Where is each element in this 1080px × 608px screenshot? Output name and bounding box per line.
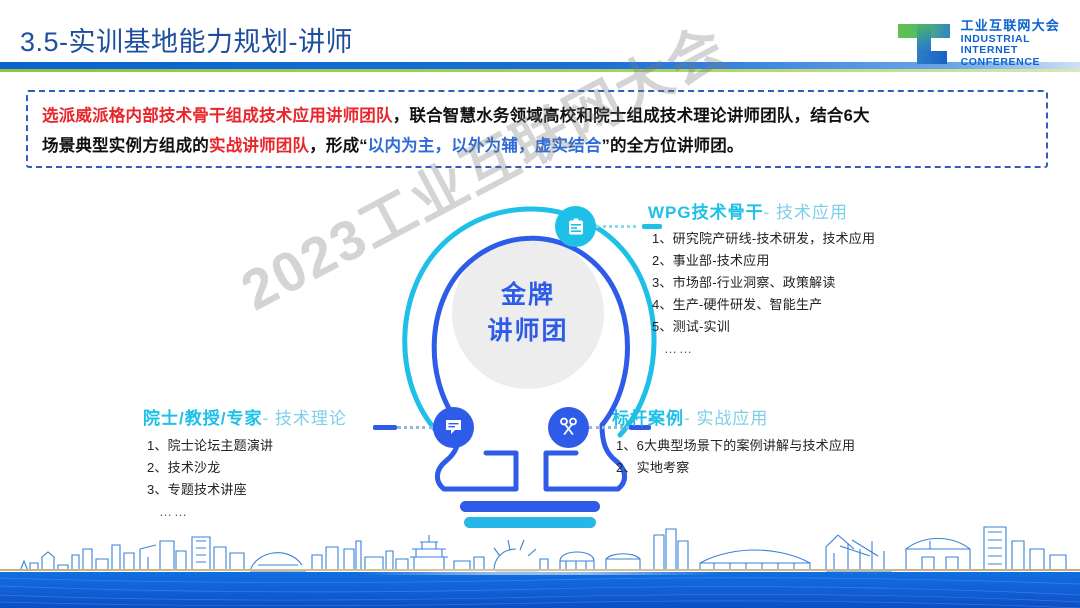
list-item: 2、技术沙龙: [147, 457, 347, 479]
callout-line-2: 场景典型实例方组成的实战讲师团队，形成“以内为主，以外为辅，虚实结合”的全方位讲…: [42, 131, 1032, 161]
callout-run-4: ”的全方位讲师团。: [602, 137, 744, 155]
heading-main: 标杆案例: [612, 409, 684, 428]
logo-mark-bottom-bar: [917, 51, 947, 64]
list-item: 3、专题技术讲座: [147, 479, 347, 501]
list-item: 3、市场部-行业洞察、政策解读: [652, 272, 875, 294]
list-item: 1、6大典型场景下的案例讲解与技术应用: [616, 435, 855, 457]
heading-main: WPG技术骨干: [648, 203, 764, 222]
footer-ground-line: [0, 569, 1080, 571]
callout-run-0: 场景典型实例方组成的: [42, 137, 209, 155]
block-bottom-left-items: 1、院士论坛主题演讲 2、技术沙龙 3、专题技术讲座 ……: [143, 435, 347, 523]
logo-title-cn: 工业互联网大会: [961, 19, 1060, 34]
bulb-center-line-2: 讲师团: [398, 313, 658, 349]
list-item: 2、事业部-技术应用: [652, 250, 875, 272]
list-item: 4、生产-硬件研发、智能生产: [652, 294, 875, 316]
callout-run-1: ，联合智慧水务领域高校和院士组成技术理论讲师团队，结合6大: [393, 107, 870, 125]
footer-skyline: [0, 516, 1080, 608]
chat-bubble-icon[interactable]: [433, 407, 474, 448]
heading-sub: - 技术应用: [764, 203, 848, 222]
callout-run-3: 以内为主，以外为辅，虚实结合: [368, 137, 602, 155]
footer-skyline-svg: [0, 516, 1080, 608]
clipboard-icon[interactable]: [555, 206, 596, 247]
conference-logo: 工业互联网大会 INDUSTRIAL INTERNET CONFERENCE: [896, 16, 1060, 72]
scissors-icon[interactable]: [548, 407, 589, 448]
connector-bottom-left: [373, 425, 433, 430]
logo-title-en-3: CONFERENCE: [961, 57, 1060, 69]
block-top-right: WPG技术骨干- 技术应用 1、研究院产研线-技术研发，技术应用 2、事业部-技…: [648, 198, 875, 360]
callout-line-1: 选派威派格内部技术骨干组成技术应用讲师团队，联合智慧水务领域高校和院士组成技术理…: [42, 101, 1032, 131]
page-title: 3.5-实训基地能力规划-讲师: [20, 20, 353, 59]
heading-sub: - 实战应用: [684, 409, 768, 428]
connector-segment: [373, 425, 397, 430]
callout-run-1: 实战讲师团队: [209, 137, 309, 155]
heading-sub: - 技术理论: [262, 409, 346, 428]
block-bottom-right-heading: 标杆案例- 实战应用: [612, 404, 855, 429]
connector-dots: [397, 426, 433, 429]
callout-box: 选派威派格内部技术骨干组成技术应用讲师团队，联合智慧水务领域高校和院士组成技术理…: [26, 90, 1048, 168]
bulb-center-line-1: 金牌: [398, 277, 658, 313]
heading-main: 院士/教授/专家: [143, 409, 262, 428]
bulb-center-label: 金牌 讲师团: [398, 277, 658, 349]
callout-run-0: 选派威派格内部技术骨干组成技术应用讲师团队: [42, 107, 393, 125]
block-top-right-heading: WPG技术骨干- 技术应用: [648, 198, 875, 223]
logo-text: 工业互联网大会 INDUSTRIAL INTERNET CONFERENCE: [961, 19, 1060, 69]
list-item: 1、研究院产研线-技术研发，技术应用: [652, 228, 875, 250]
list-item: 1、院士论坛主题演讲: [147, 435, 347, 457]
block-bottom-left: 院士/教授/专家- 技术理论 1、院士论坛主题演讲 2、技术沙龙 3、专题技术讲…: [143, 404, 347, 523]
list-item: 2、实地考察: [616, 457, 855, 479]
block-top-right-items: 1、研究院产研线-技术研发，技术应用 2、事业部-技术应用 3、市场部-行业洞察…: [648, 228, 875, 360]
connector-dots: [596, 225, 636, 228]
block-bottom-right-items: 1、6大典型场景下的案例讲解与技术应用 2、实地考察: [612, 435, 855, 479]
block-bottom-left-heading: 院士/教授/专家- 技术理论: [143, 404, 347, 429]
list-ellipsis: ……: [652, 338, 875, 360]
slide-canvas: 3.5-实训基地能力规划-讲师 工业互联网大会 INDUSTRIAL INTER…: [0, 0, 1080, 608]
callout-run-2: ，形成“: [309, 137, 368, 155]
list-item: 5、测试-实训: [652, 316, 875, 338]
block-bottom-right: 标杆案例- 实战应用 1、6大典型场景下的案例讲解与技术应用 2、实地考察: [612, 404, 855, 479]
logo-mark-icon: [896, 19, 952, 69]
